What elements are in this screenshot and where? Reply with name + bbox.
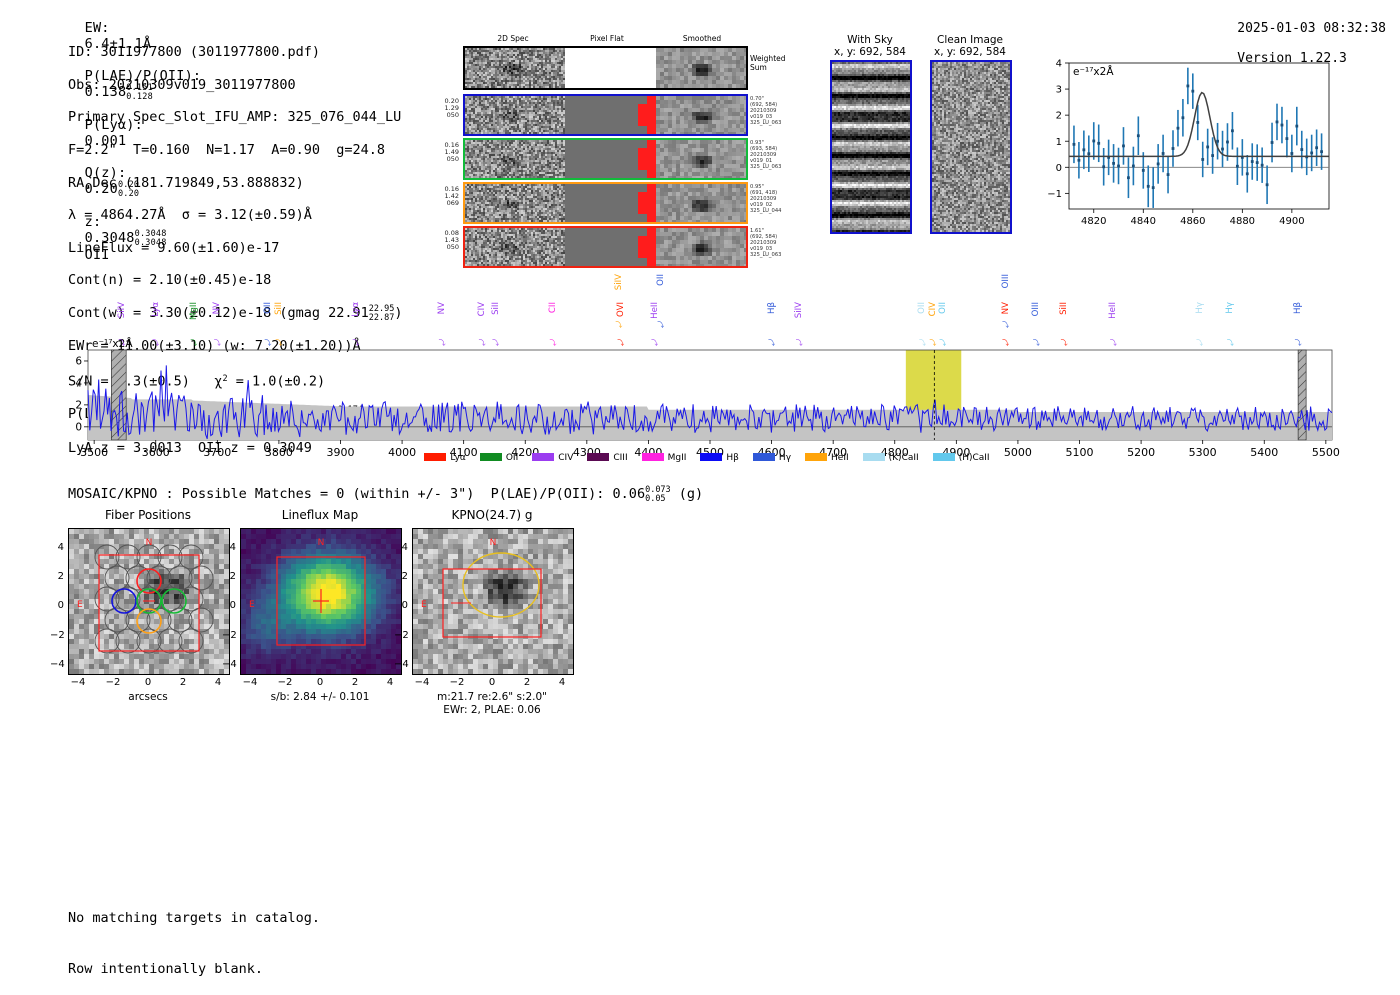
- pixelflat-mask-bar: [647, 228, 656, 266]
- pixelflat-mask-bar-secondary: [638, 148, 647, 169]
- spec2d-row-left-labels: 0.161.49050: [417, 142, 459, 164]
- spec2d-column-title: Pixel Flat: [573, 34, 641, 43]
- spec2d-left-value: 050: [417, 112, 459, 119]
- info-lambda-sigma: λ = 4864.27Å σ = 3.12(±0.59)Å: [68, 207, 402, 223]
- spectrum-line-bracket: ⤵: [439, 338, 446, 348]
- spectrum-line-bracket: ⤵: [1061, 338, 1068, 348]
- pixelflat-mask-bar: [647, 184, 656, 222]
- spectrum-line-label: Hγ: [1195, 302, 1205, 314]
- caption-line: m:21.7 re:2.6" s:2.0": [398, 691, 586, 704]
- footer-note: No matching targets in catalog. Row inte…: [68, 876, 320, 995]
- image-panel-title: Fiber Positions: [68, 508, 228, 522]
- image-panel-ytick: 0: [394, 600, 408, 611]
- spec2d-2dspec-image: [465, 184, 565, 222]
- info-lineflux: LineFlux = 9.60(±1.60)e-17: [68, 240, 402, 256]
- lineflux-map-image[interactable]: NE: [240, 528, 402, 675]
- spectrum-line-label: SiII: [274, 302, 284, 315]
- image-panel-ytick: −2: [394, 630, 408, 641]
- fiber-positions-image[interactable]: NE: [68, 528, 230, 675]
- spec2d-smoothed-image: [656, 228, 746, 266]
- legend-label: Hγ: [779, 453, 791, 463]
- image-panel-ytick: 4: [50, 542, 64, 553]
- spectrum-line-bracket: ⤵: [796, 338, 803, 348]
- cutout-name: Clean Image: [925, 34, 1015, 46]
- spec2d-row: [463, 138, 748, 180]
- spec2d-2dspec-image: [465, 228, 565, 266]
- spec2d-left-value: 050: [417, 156, 459, 163]
- spec2d-right-value: 325_LU_044: [750, 208, 810, 214]
- spectrum-line-label: SiII: [491, 302, 501, 315]
- spectrum-line-label: SiIV: [794, 302, 804, 318]
- image-panel-ytick: 4: [394, 542, 408, 553]
- legend-label: (H)CaII: [959, 453, 990, 463]
- image-panel-xtick: −4: [240, 677, 260, 688]
- clean-image: [930, 60, 1012, 234]
- image-panel-xtick: 2: [345, 677, 365, 688]
- image-panel-ytick: −2: [50, 630, 64, 641]
- image-panel-xlabel: arcsecs: [68, 691, 228, 704]
- spectrum-line-bracket: ⤵: [1002, 320, 1009, 330]
- cutout-coords: x, y: 692, 584: [825, 46, 915, 58]
- image-panel-ytick: −2: [222, 630, 236, 641]
- pixelflat-mask-bar-secondary: [638, 104, 647, 125]
- legend-label: (K)CaII: [889, 453, 919, 463]
- spec2d-row: [463, 226, 748, 268]
- image-panel-ytick: 2: [50, 571, 64, 582]
- spectrum-line-bracket: ⤵: [190, 338, 197, 348]
- cutout-title: Clean Imagex, y: 692, 584: [925, 34, 1015, 58]
- image-panel-title: Lineflux Map: [240, 508, 400, 522]
- spectrum-line-bracket: ⤵: [152, 338, 159, 348]
- spectrum-line-bracket: ⤵: [118, 338, 125, 348]
- image-panel-ytick: 2: [394, 571, 408, 582]
- image-panel-xtick: −4: [412, 677, 432, 688]
- spec2d-smoothed-image: [656, 184, 746, 222]
- mosaic-match-line: MOSAIC/KPNO : Possible Matches = 0 (with…: [68, 486, 703, 503]
- legend-label: CIII: [613, 453, 627, 463]
- full-spectrum-chart: 0246350036003700380039004000410042004300…: [60, 268, 1340, 468]
- spectrum-line-label: OVI: [616, 302, 626, 317]
- cutout-title: With Skyx, y: 692, 584: [825, 34, 915, 58]
- spec2d-row-right-labels: 0.93"(693, 584)20210309v019_01325_LU_063: [750, 140, 810, 170]
- spectrum-line-bracket: ⤵: [617, 338, 624, 348]
- spectrum-line-label: CII: [548, 302, 558, 313]
- spec2d-row-left-labels: 0.081.43050: [417, 230, 459, 252]
- spectrum-line-bracket: ⤵: [275, 338, 282, 348]
- caption-line: EWr: 2, PLAE: 0.06: [398, 704, 586, 717]
- info-params: F=2.2" T=0.160 N=1.17 A=0.90 g=24.8: [68, 142, 402, 158]
- spec2d-row: [463, 94, 748, 136]
- image-panel-xtick: −2: [103, 677, 123, 688]
- spec2d-row: [463, 46, 748, 90]
- image-panel-ytick: −4: [394, 659, 408, 670]
- image-panel-xtick: 2: [517, 677, 537, 688]
- legend-swatch: [480, 453, 502, 461]
- with-sky-image: [830, 60, 912, 234]
- legend-label: Lyα: [450, 453, 465, 463]
- image-panel-title: KPNO(24.7) g: [412, 508, 572, 522]
- footer-line-2: Row intentionally blank.: [68, 961, 320, 978]
- spectrum-line-label: Hγ: [1225, 302, 1235, 314]
- image-panel-xtick: 4: [208, 677, 228, 688]
- pixelflat-mask-bar: [647, 140, 656, 178]
- spec2d-right-value: 325_LU_063: [750, 120, 810, 126]
- spec2d-panel: 2D SpecPixel FlatSmoothed0.201.290500.70…: [417, 34, 762, 239]
- spectrum-line-label: Lyα: [151, 302, 161, 317]
- legend-swatch: [700, 453, 722, 461]
- spectrum-line-label: HeII: [650, 302, 660, 319]
- image-panel-ytick: 2: [222, 571, 236, 582]
- legend-swatch: [642, 453, 664, 461]
- cutout-name: With Sky: [825, 34, 915, 46]
- spectrum-line-bracket: ⤵: [214, 338, 221, 348]
- spectrum-line-label: Hβ: [767, 302, 777, 314]
- legend-label: OII: [506, 453, 518, 463]
- spectrum-line-label: OII: [263, 302, 273, 314]
- legend-swatch: [424, 453, 446, 461]
- spec2d-right-value: 325_LU_063: [750, 252, 810, 258]
- image-panel-ytick: 0: [222, 600, 236, 611]
- spectrum-line-bracket: ⤵: [615, 320, 622, 330]
- image-panel-xtick: 0: [310, 677, 330, 688]
- spectrum-line-bracket: ⤵: [1110, 338, 1117, 348]
- spec2d-row: [463, 182, 748, 224]
- spectrum-line-bracket: ⤵: [1227, 338, 1234, 348]
- spectrum-line-label: Hβ: [1293, 302, 1303, 314]
- image-panel-xtick: −2: [275, 677, 295, 688]
- legend-label: CIV: [558, 453, 573, 463]
- legend-swatch: [933, 453, 955, 461]
- spectrum-line-label: OIII: [1001, 274, 1011, 288]
- caption-line: s/b: 2.84 +/- 0.101: [226, 691, 414, 704]
- info-primary-spec: Primary Spec_Slot_IFU_AMP: 325_076_044_L…: [68, 109, 402, 125]
- info-radec: RA,Dec (181.719849,53.888832): [68, 175, 402, 191]
- spec2d-column-title: 2D Spec: [479, 34, 547, 43]
- mosaic-plae-range: 0.0730.05: [645, 486, 671, 503]
- spec2d-row-right-labels: 1.61"(692, 584)20210309v019_03325_LU_063: [750, 228, 810, 258]
- image-panel-xtick: 4: [552, 677, 572, 688]
- spec2d-pixelflat-image: [565, 96, 656, 134]
- legend-swatch: [532, 453, 554, 461]
- spectrum-line-bracket: ⤵: [939, 338, 946, 348]
- spectrum-line-bracket: ⤵: [1196, 338, 1203, 348]
- spectrum-line-bracket: ⤵: [352, 338, 359, 348]
- image-panel-xtick: −2: [447, 677, 467, 688]
- spec2d-pixelflat-image: [565, 48, 656, 88]
- image-panel-xtick: 0: [138, 677, 158, 688]
- info-id: ID: 3011977800 (3011977800.pdf): [68, 44, 402, 60]
- emission-line-fit-chart: −10123448204840486048804900e⁻¹⁷x2Å: [1035, 55, 1335, 235]
- spectrum-line-label: NV: [212, 302, 222, 314]
- spectrum-line-label: OII: [656, 274, 666, 286]
- spec2d-pixelflat-image: [565, 184, 656, 222]
- mosaic-line-text: MOSAIC/KPNO : Possible Matches = 0 (with…: [68, 486, 645, 502]
- pixelflat-mask-bar-secondary: [638, 236, 647, 257]
- image-panel-xtick: 4: [380, 677, 400, 688]
- spectrum-line-bracket: ⤵: [768, 338, 775, 348]
- spec2d-pixelflat-image: [565, 140, 656, 178]
- cutout-coords: x, y: 692, 584: [925, 46, 1015, 58]
- weighted-sum-label: WeightedSum: [750, 54, 786, 72]
- spectrum-line-label: SiIV: [614, 274, 624, 290]
- spec2d-row-right-labels: 0.95"(691, 418)20210309v019_02325_LU_044: [750, 184, 810, 214]
- spectrum-line-bracket: ⤵: [1033, 338, 1040, 348]
- spectrum-line-label: CIV: [928, 302, 938, 316]
- spectrum-line-label: Lyα: [351, 302, 361, 317]
- spectrum-line-bracket: ⤵: [479, 338, 486, 348]
- spectrum-line-label: OII: [938, 302, 948, 314]
- spec2d-smoothed-image: [656, 48, 746, 88]
- spec2d-row-left-labels: 0.201.29050: [417, 98, 459, 120]
- spectrum-line-label: NV: [1001, 302, 1011, 314]
- image-panel-row: Fiber PositionsNE420−2−4−4−2024arcsecsLi…: [0, 508, 1400, 738]
- spec2d-right-value: 325_LU_063: [750, 164, 810, 170]
- spec2d-2dspec-image: [465, 96, 565, 134]
- spectrum-line-label: MgII: [189, 302, 199, 320]
- legend-label: Hβ: [726, 453, 739, 463]
- spec2d-left-value: 069: [417, 200, 459, 207]
- image-panel-ytick: 0: [50, 600, 64, 611]
- image-panel-caption: m:21.7 re:2.6" s:2.0"EWr: 2, PLAE: 0.06: [398, 691, 586, 717]
- image-panel-xtick: 0: [482, 677, 502, 688]
- legend-swatch: [587, 453, 609, 461]
- footer-line-1: No matching targets in catalog.: [68, 910, 320, 927]
- spectrum-line-label: OII: [917, 302, 927, 314]
- spec2d-pixelflat-image: [565, 228, 656, 266]
- spec2d-column-title: Smoothed: [668, 34, 736, 43]
- spectrum-line-bracket: ⤵: [1002, 338, 1009, 348]
- spectrum-line-bracket: ⤵: [264, 338, 271, 348]
- spectrum-line-bracket: ⤵: [657, 320, 664, 330]
- spectrum-line-bracket: ⤵: [929, 338, 936, 348]
- spectrum-line-bracket: ⤵: [1295, 338, 1302, 348]
- image-panel-caption: s/b: 2.84 +/- 0.101: [226, 691, 414, 704]
- spec2d-2dspec-image: [465, 140, 565, 178]
- legend-swatch: [863, 453, 885, 461]
- image-panel-ytick: −4: [50, 659, 64, 670]
- legend-swatch: [753, 453, 775, 461]
- spectrum-line-label: SiII: [1059, 302, 1069, 315]
- spectrum-legend: LyαOIICIVCIIIMgIIHβHγHeII(K)CaII(H)CaII: [0, 453, 1400, 463]
- mosaic-line-suffix: (g): [671, 486, 704, 502]
- spectrum-line-label: CIV: [477, 302, 487, 316]
- info-obs: Obs: 20210309v019_3011977800: [68, 77, 402, 93]
- legend-label: MgII: [668, 453, 687, 463]
- image-panel-xtick: 2: [173, 677, 193, 688]
- spectrum-line-label: OIII: [1031, 302, 1041, 316]
- spec2d-row-left-labels: 0.161.42069: [417, 186, 459, 208]
- image-panel-ytick: 4: [222, 542, 236, 553]
- spectrum-line-label: HeII: [1108, 302, 1118, 319]
- spec2d-2dspec-image: [465, 48, 565, 88]
- legend-label: HeII: [831, 453, 849, 463]
- spectrum-line-bracket: ⤵: [492, 338, 499, 348]
- spec2d-smoothed-image: [656, 140, 746, 178]
- kpno-g-image[interactable]: NE: [412, 528, 574, 675]
- spec2d-smoothed-image: [656, 96, 746, 134]
- header-timestamp: 2025-01-03 08:32:38: [1237, 21, 1386, 36]
- spectrum-line-label: SiIV: [117, 302, 127, 318]
- pixelflat-mask-bar: [647, 96, 656, 134]
- spec2d-row-right-labels: 0.70"(692, 584)20210309v019_03325_LU_063: [750, 96, 810, 126]
- cutout-panel: With Skyx, y: 692, 584Clean Imagex, y: 6…: [820, 34, 1025, 239]
- legend-swatch: [805, 453, 827, 461]
- spectrum-line-label: NV: [437, 302, 447, 314]
- spectrum-line-bracket: ⤵: [549, 338, 556, 348]
- image-panel-ytick: −4: [222, 659, 236, 670]
- spectrum-line-bracket: ⤵: [919, 338, 926, 348]
- spec2d-left-value: 050: [417, 244, 459, 251]
- pixelflat-mask-bar-secondary: [638, 192, 647, 213]
- spectrum-line-bracket: ⤵: [651, 338, 658, 348]
- image-panel-xtick: −4: [68, 677, 88, 688]
